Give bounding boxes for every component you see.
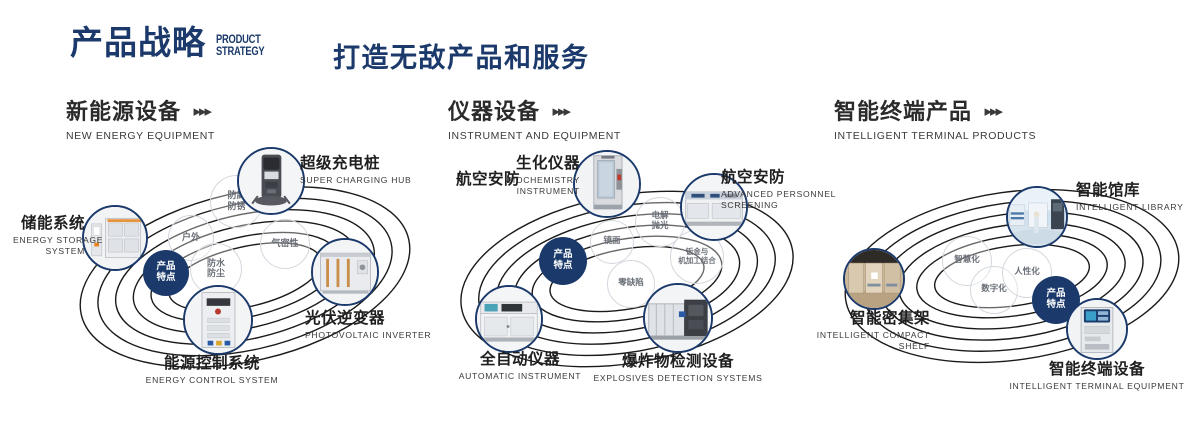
core-bubble-product-features: 产品 特点	[539, 237, 587, 285]
chevron-right-triple-icon: ▸▸▸	[193, 102, 210, 120]
node-photovoltaic-inverter[interactable]	[311, 238, 379, 306]
section-title-instrument: 仪器设备 ▸▸▸ INSTRUMENT AND EQUIPMENT	[448, 94, 621, 142]
page-title-en-line2: STRATEGY	[216, 44, 264, 58]
control-cabinet-icon	[185, 287, 251, 353]
library-interior-icon	[1008, 188, 1066, 246]
section-title-instrument-cn: 仪器设备 ▸▸▸	[448, 94, 621, 126]
node-automatic-instrument[interactable]	[475, 285, 543, 353]
chevron-right-triple-icon: ▸▸▸	[552, 102, 569, 120]
label-automatic-instrument: 全自动仪器 AUTOMATIC INSTRUMENT	[395, 351, 645, 382]
label-advanced-personnel-screening: 航空安防 ADVANCED PERSONNEL SCREENING	[721, 169, 836, 210]
node-explosives-detection[interactable]	[643, 283, 713, 353]
section-title-instrument-en: INSTRUMENT AND EQUIPMENT	[448, 130, 621, 142]
explosive-detector-icon	[645, 285, 711, 351]
section-title-new-energy-cn: 新能源设备 ▸▸▸	[66, 94, 215, 126]
section-title-terminal-en: INTELLIGENT TERMINAL PRODUCTS	[834, 130, 1036, 142]
cluster-new-energy: 户外 防腐 防锈 防水 防尘 气密性 产品 特点	[55, 155, 435, 395]
label-photovoltaic-inverter: 光伏逆变器 PHOTOVOLTAIC INVERTER	[305, 310, 431, 341]
label-intelligent-compact-shelf: 智能密集架 INTELLIGENT COMPACT SHELF	[770, 310, 930, 351]
feature-bubble: 气密性	[260, 219, 310, 269]
cluster-intelligent-terminal: 智慧化 数字化 人性化 产品 特点	[820, 158, 1200, 398]
node-intelligent-compact-shelf[interactable]	[843, 248, 905, 310]
core-bubble-product-features: 产品 特点	[143, 250, 189, 296]
pv-inverter-icon	[313, 240, 377, 304]
node-intelligent-terminal-equipment[interactable]	[1066, 298, 1128, 360]
label-intelligent-terminal-equipment: 智能终端设备 INTELLIGENT TERMINAL EQUIPMENT	[982, 361, 1200, 392]
page-subtitle: 打造无敌产品和服务	[333, 36, 590, 75]
label-super-charging-hub: 超级充电桩 SUPER CHARGING HUB	[300, 155, 411, 186]
node-super-charging-hub[interactable]	[237, 147, 305, 215]
page-title: 产品战略 PRODUCT STRATEGY	[70, 26, 278, 59]
feature-bubble: 镜面	[590, 220, 634, 264]
auto-instrument-icon	[477, 287, 541, 351]
section-title-terminal-cn: 智能终端产品 ▸▸▸	[834, 94, 1036, 126]
section-title-new-energy: 新能源设备 ▸▸▸ NEW ENERGY EQUIPMENT	[66, 94, 215, 142]
cluster-instrument: 镜面 电解 抛光 钣金与 机加工结合 零缺陷 产品 特点	[435, 155, 815, 395]
section-title-terminal: 智能终端产品 ▸▸▸ INTELLIGENT TERMINAL PRODUCTS	[834, 94, 1036, 142]
terminal-kiosk-icon	[1068, 300, 1126, 358]
section-title-new-energy-en: NEW ENERGY EQUIPMENT	[66, 130, 215, 142]
page-title-cn: 产品战略	[70, 26, 206, 59]
node-energy-control-system[interactable]	[183, 285, 253, 355]
chevron-right-triple-icon: ▸▸▸	[984, 102, 1001, 120]
poster-canvas: 产品战略 PRODUCT STRATEGY 打造无敌产品和服务 新能源设备 ▸▸…	[0, 0, 1200, 422]
compact-shelf-icon	[845, 250, 903, 308]
label-intelligent-library: 智能馆库 INTELLIGENT LIBRARY	[1076, 182, 1184, 213]
node-biochemistry-instrument[interactable]	[573, 150, 641, 218]
label-aviation-security: 航空安防	[410, 171, 520, 189]
charging-pile-icon	[239, 149, 303, 213]
node-intelligent-library[interactable]	[1006, 186, 1068, 248]
label-energy-storage: 储能系统 ENERGY STORAGE SYSTEM	[13, 215, 85, 256]
page-title-en: PRODUCT STRATEGY	[216, 33, 264, 57]
label-energy-control-system: 能源控制系统 ENERGY CONTROL SYSTEM	[87, 355, 337, 386]
biochem-scanner-icon	[575, 152, 639, 216]
